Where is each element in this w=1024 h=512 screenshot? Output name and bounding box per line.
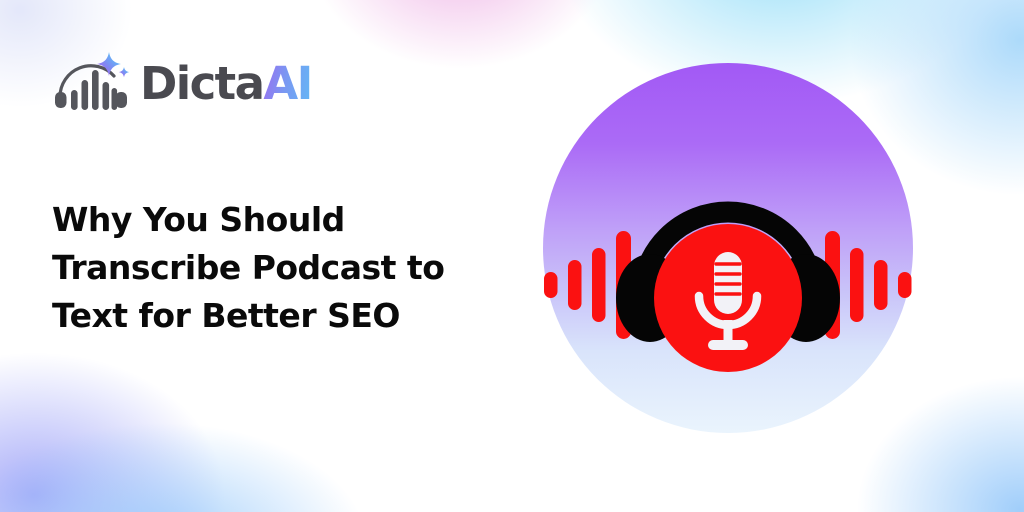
brand-logo[interactable]: DictaAI [52,52,312,114]
headphones-waveform-sparkle-icon [52,52,130,114]
brand-name-accent: AI [263,57,311,110]
podcast-illustration [528,48,928,448]
background-blob-bottom-left-2 [0,380,440,512]
page-title: Why You Should Transcribe Podcast to Tex… [52,196,472,340]
blog-banner: DictaAI Why You Should Transcribe Podcas… [0,0,1024,512]
brand-name-primary: Dicta [140,57,263,110]
brand-wordmark: DictaAI [140,61,312,106]
